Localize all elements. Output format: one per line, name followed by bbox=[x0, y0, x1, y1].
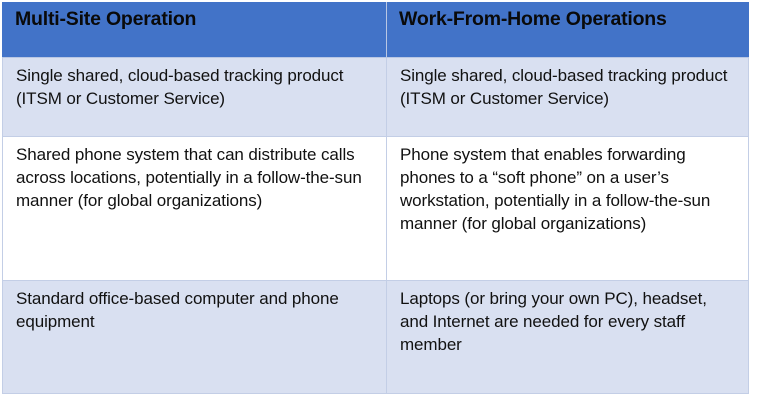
cell-phone-system-work-from-home: Phone system that enables forwarding pho… bbox=[387, 137, 749, 281]
cell-equipment-multi-site: Standard office-based computer and phone… bbox=[3, 281, 387, 394]
cell-phone-system-multi-site: Shared phone system that can distribute … bbox=[3, 137, 387, 281]
table-row: Shared phone system that can distribute … bbox=[3, 137, 749, 281]
cell-text: Laptops (or bring your own PC), headset,… bbox=[400, 287, 736, 356]
column-header-multi-site: Multi-Site Operation bbox=[3, 3, 387, 58]
cell-text: Shared phone system that can distribute … bbox=[16, 143, 374, 212]
table-row: Single shared, cloud-based tracking prod… bbox=[3, 58, 749, 137]
cell-tracking-product-multi-site: Single shared, cloud-based tracking prod… bbox=[3, 58, 387, 137]
cell-text: Phone system that enables forwarding pho… bbox=[400, 143, 736, 235]
table-row: Standard office-based computer and phone… bbox=[3, 281, 749, 394]
table-header: Multi-Site Operation Work-From-Home Oper… bbox=[3, 3, 749, 58]
cell-text: Single shared, cloud-based tracking prod… bbox=[16, 64, 374, 110]
column-header-work-from-home: Work-From-Home Operations bbox=[387, 3, 749, 58]
cell-text: Single shared, cloud-based tracking prod… bbox=[400, 64, 736, 110]
comparison-table-container: Multi-Site Operation Work-From-Home Oper… bbox=[2, 2, 748, 393]
cell-text: Standard office-based computer and phone… bbox=[16, 287, 374, 333]
comparison-table: Multi-Site Operation Work-From-Home Oper… bbox=[2, 2, 749, 394]
table-body: Single shared, cloud-based tracking prod… bbox=[3, 58, 749, 394]
cell-tracking-product-work-from-home: Single shared, cloud-based tracking prod… bbox=[387, 58, 749, 137]
cell-equipment-work-from-home: Laptops (or bring your own PC), headset,… bbox=[387, 281, 749, 394]
table-header-row: Multi-Site Operation Work-From-Home Oper… bbox=[3, 3, 749, 58]
